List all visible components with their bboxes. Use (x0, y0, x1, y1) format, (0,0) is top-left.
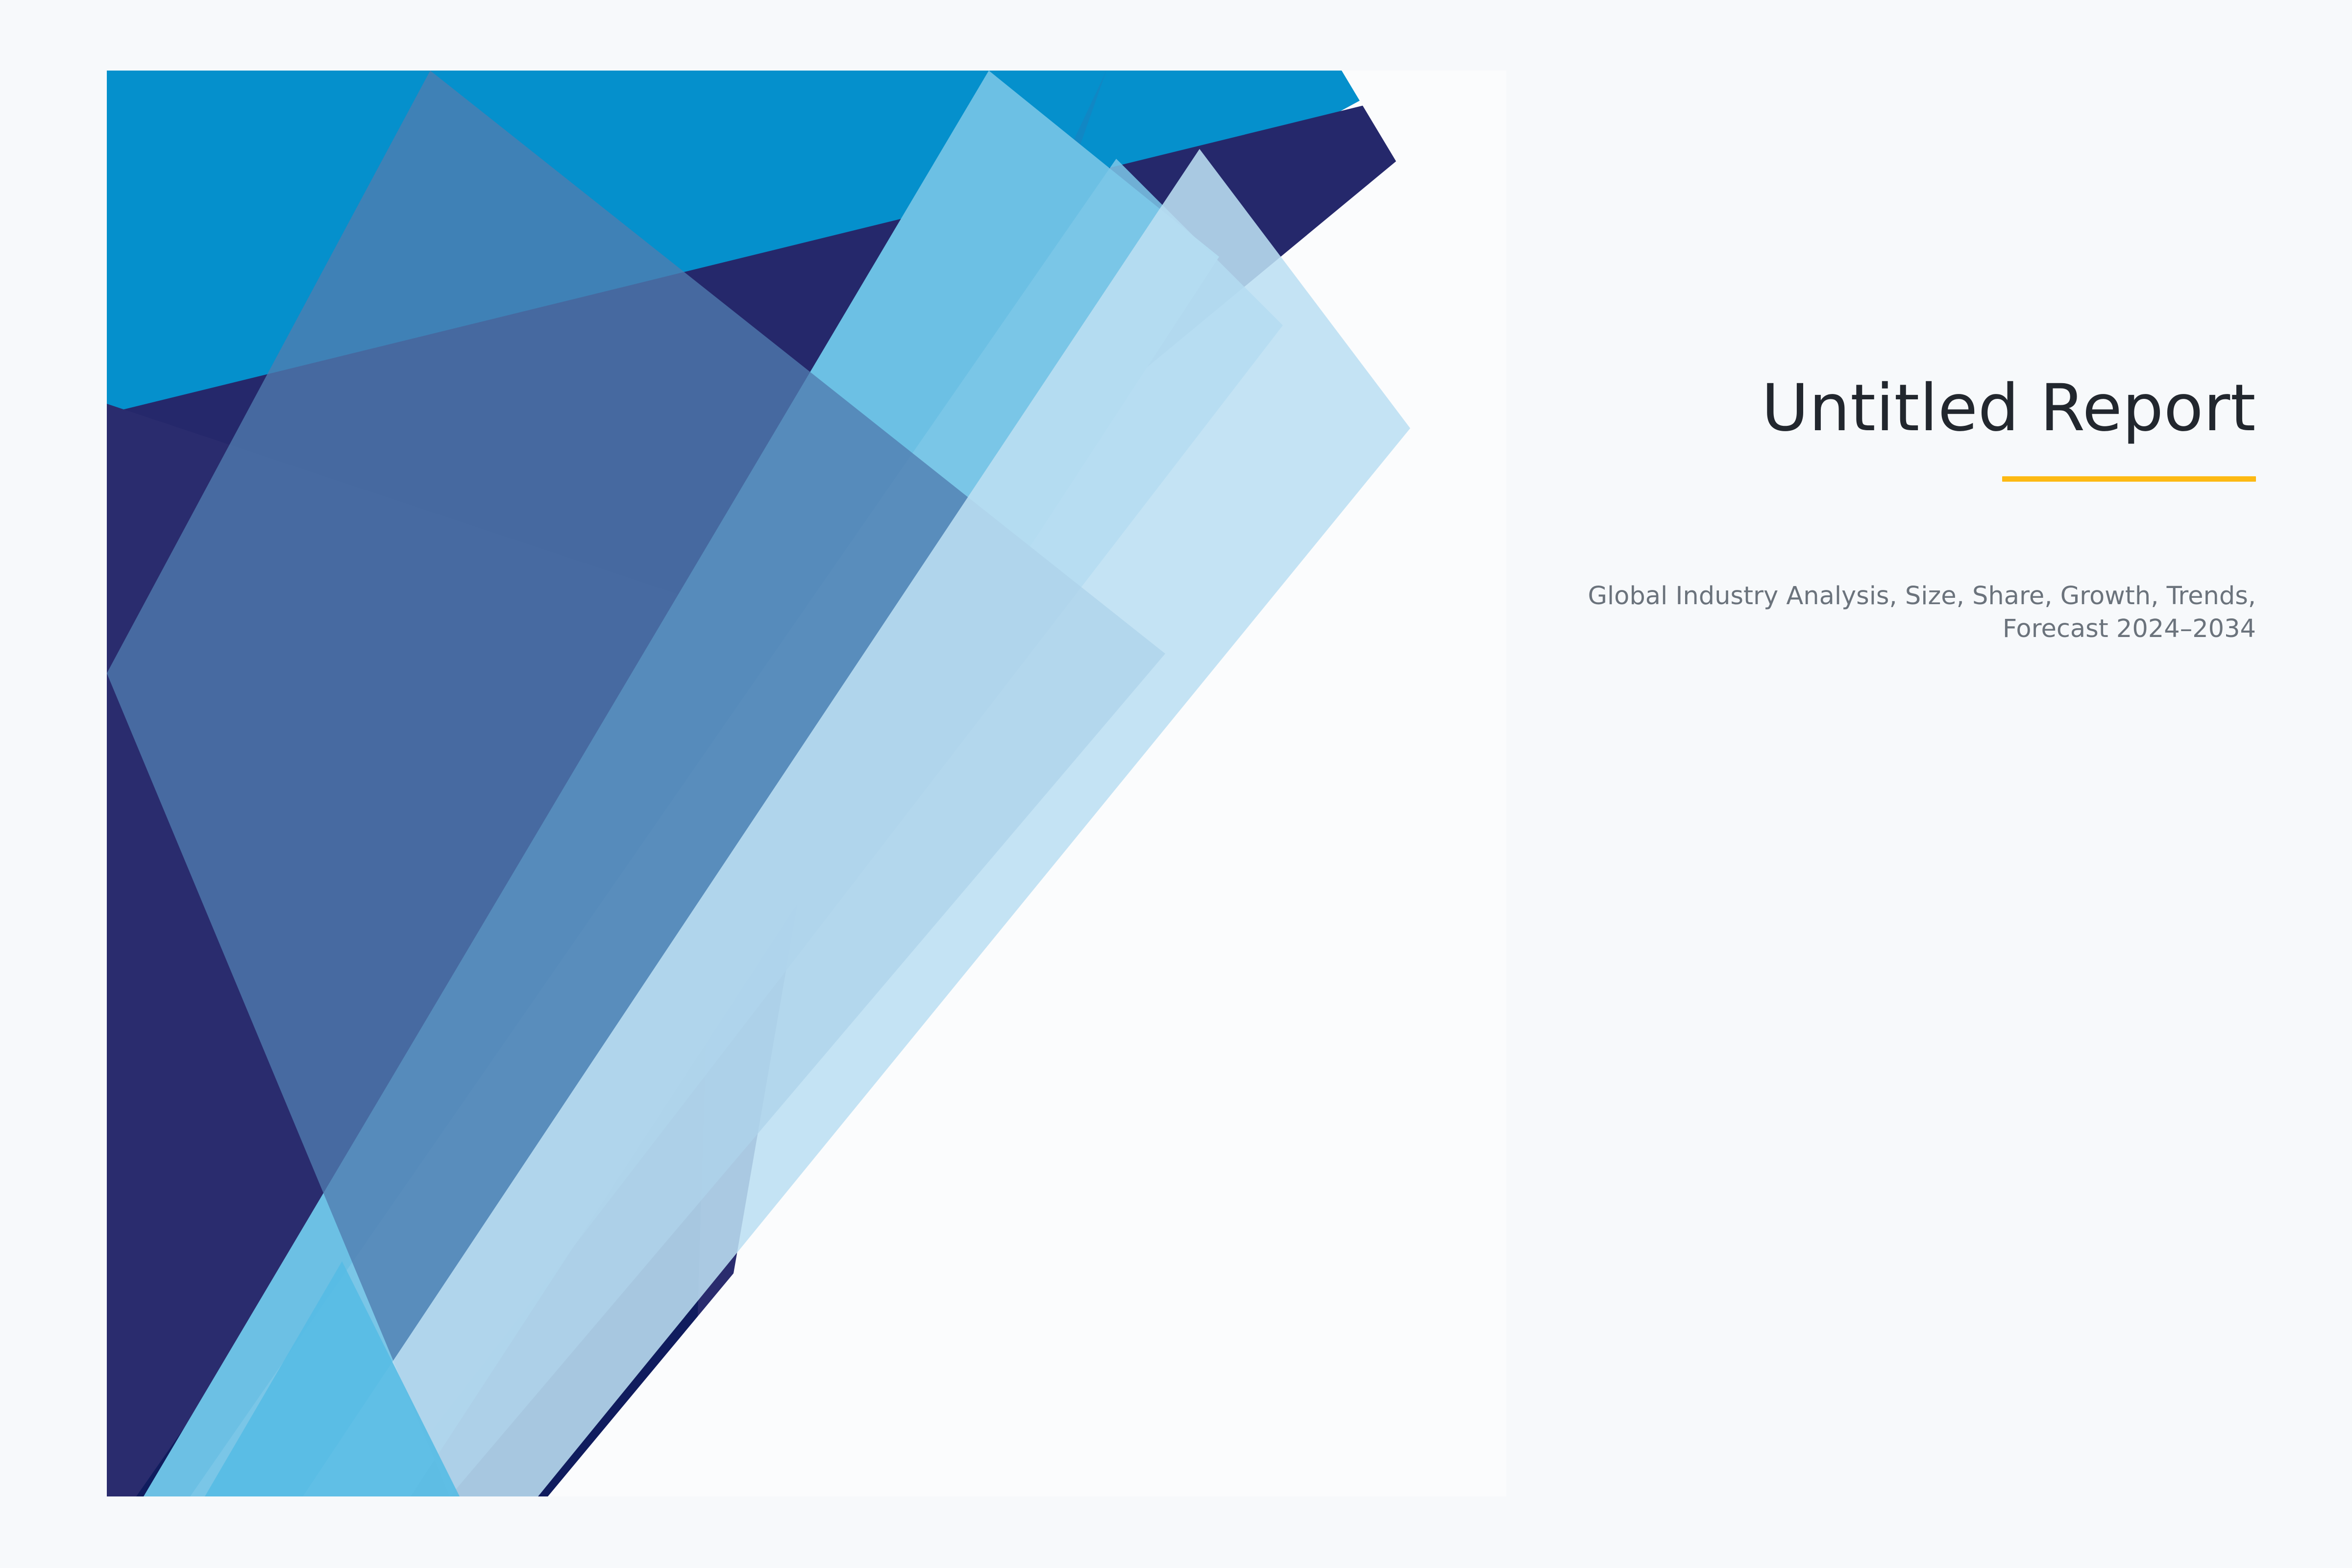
abstract-geometric-graphic (107, 71, 1506, 1496)
accent-rule (2002, 476, 2256, 482)
cover-artwork (107, 71, 1506, 1496)
cover-text-column: Untitled Report Global Industry Analysis… (1588, 372, 2256, 645)
report-cover-page: Untitled Report Global Industry Analysis… (0, 0, 2352, 1568)
report-subtitle: Global Industry Analysis, Size, Share, G… (1588, 580, 2256, 646)
page-title: Untitled Report (1588, 372, 2256, 445)
accent-rule-container (1588, 476, 2256, 482)
